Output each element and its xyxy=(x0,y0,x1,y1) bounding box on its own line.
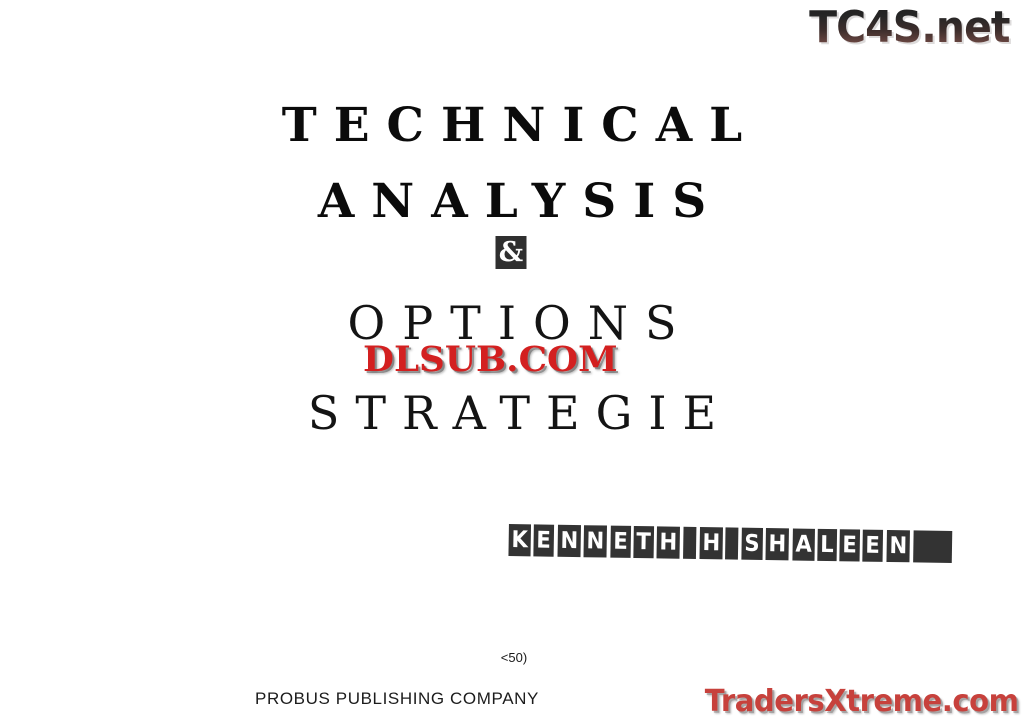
author-letter-tile: H xyxy=(699,527,723,559)
cover-title-line-4: STRATEGIE xyxy=(0,386,1024,440)
author-letter-tile: E xyxy=(840,529,860,561)
author-name-strip: KENNETHHSHALEEN xyxy=(507,524,955,563)
author-letter-tile: E xyxy=(610,526,630,558)
author-letter-tile: T xyxy=(634,526,654,558)
author-letter-tile: H xyxy=(657,526,681,558)
author-letter-tile: N xyxy=(557,525,581,557)
author-letter-tile: N xyxy=(886,530,910,562)
author-letter-tile: L xyxy=(817,529,837,561)
author-letter-tile: K xyxy=(508,524,530,556)
cover-title-line-1: TECHNICAL xyxy=(0,98,1024,153)
author-spacer-tile xyxy=(914,530,953,563)
author-letter-tile: H xyxy=(766,528,790,560)
author-letter-tile: S xyxy=(741,528,762,560)
book-cover-page: TC4S.net TC4S.net TECHNICAL ANALYSIS & O… xyxy=(0,0,1024,724)
author-letter-tile: A xyxy=(792,528,814,560)
tradersxtreme-watermark: TradersXtreme.com xyxy=(704,684,1018,720)
author-letter-tile: E xyxy=(863,530,883,562)
cover-title-line-2: ANALYSIS xyxy=(0,174,1024,229)
author-spacer-tile xyxy=(683,527,696,559)
author-letter-tile: N xyxy=(584,525,608,557)
dlsub-watermark: DLSUB.COM xyxy=(363,340,618,380)
cover-ampersand: & xyxy=(496,236,527,269)
page-number: <50) xyxy=(2,650,1024,665)
tc4s-watermark: TC4S.net xyxy=(810,2,1010,54)
author-letter-tile: E xyxy=(534,524,554,556)
author-spacer-tile xyxy=(725,527,738,559)
